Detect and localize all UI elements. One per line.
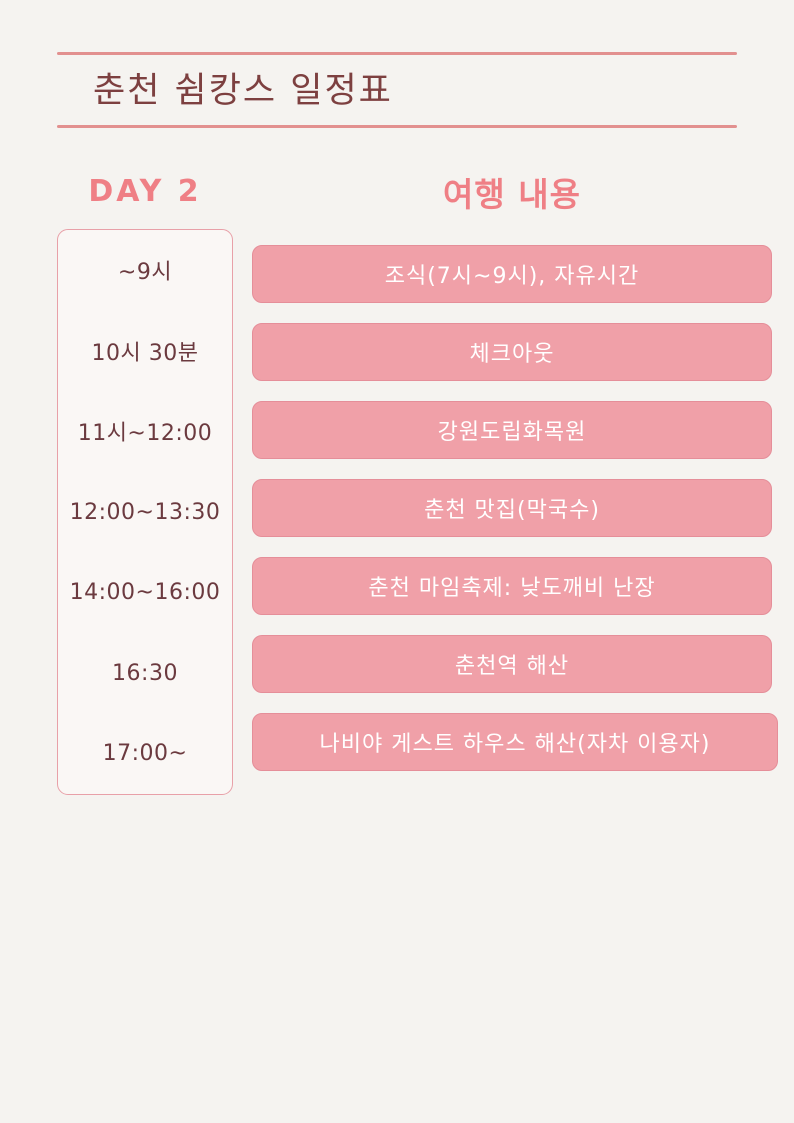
activity-pill: 체크아웃: [252, 323, 772, 381]
page-title: 춘천 쉼캉스 일정표: [57, 55, 737, 125]
time-cell: 16:30: [58, 633, 232, 714]
title-block: 춘천 쉼캉스 일정표: [57, 52, 737, 128]
activity-pill: 춘천역 해산: [252, 635, 772, 693]
time-cell: 12:00~13:30: [58, 472, 232, 553]
itinerary-page: 춘천 쉼캉스 일정표 DAY 2 여행 내용 ~9시 10시 30분 11시~1…: [0, 0, 794, 1123]
time-cell: 11시~12:00: [58, 391, 232, 472]
column-header-day: DAY 2: [57, 174, 233, 209]
time-cell: 17:00~: [58, 713, 232, 794]
activity-pill: 강원도립화목원: [252, 401, 772, 459]
time-cell: 14:00~16:00: [58, 552, 232, 633]
activity-pill: 조식(7시~9시), 자유시간: [252, 245, 772, 303]
time-column-panel: ~9시 10시 30분 11시~12:00 12:00~13:30 14:00~…: [57, 229, 233, 795]
title-rule-bottom: [57, 125, 737, 128]
activity-column: 조식(7시~9시), 자유시간 체크아웃 강원도립화목원 춘천 맛집(막국수) …: [252, 245, 778, 771]
column-header-content: 여행 내용: [252, 168, 772, 216]
activity-pill: 나비야 게스트 하우스 해산(자차 이용자): [252, 713, 778, 771]
activity-pill: 춘천 마임축제: 낮도깨비 난장: [252, 557, 772, 615]
time-cell: ~9시: [58, 230, 232, 311]
time-cell: 10시 30분: [58, 311, 232, 392]
activity-pill: 춘천 맛집(막국수): [252, 479, 772, 537]
